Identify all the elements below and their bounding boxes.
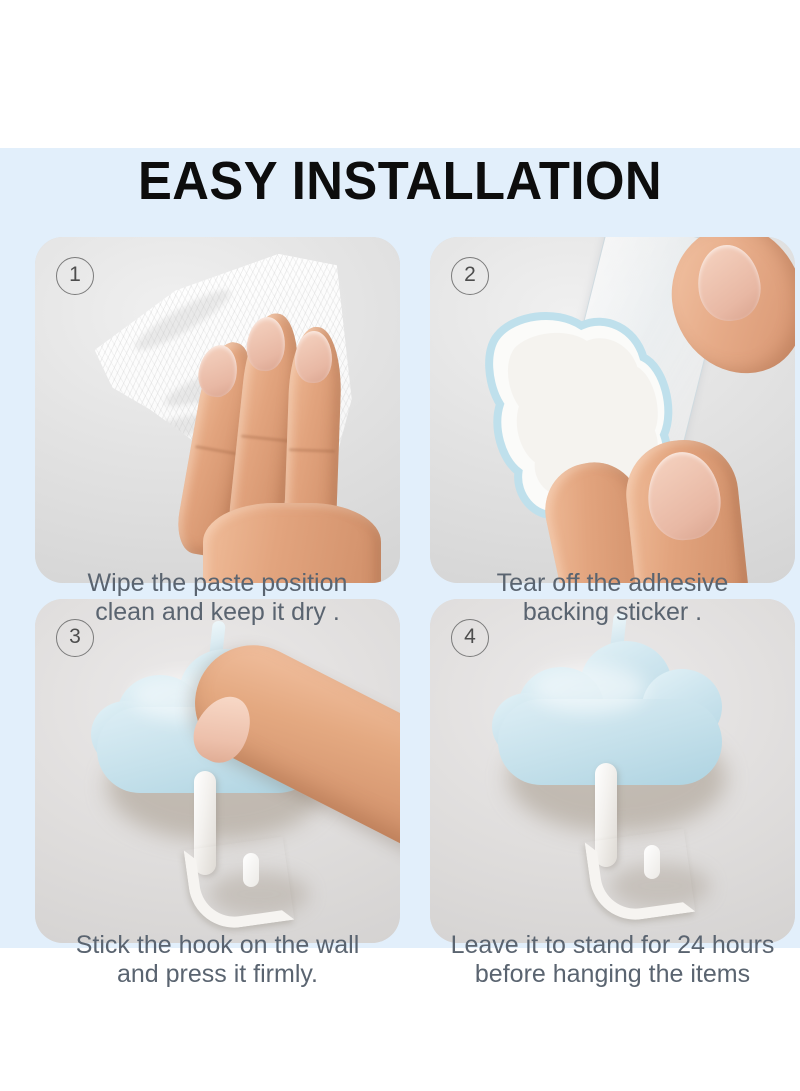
installation-steps-grid: 1 Wipe the paste position clean and keep… — [35, 237, 795, 943]
step-panel-2: 2 Tear off the adhesive backing sticker … — [430, 237, 795, 583]
step-1-photo: 1 — [35, 237, 400, 583]
hook-tip — [644, 845, 660, 879]
fingers-holding-hook — [552, 434, 762, 583]
cloud-hook-4 — [492, 613, 742, 903]
step-panel-1: 1 Wipe the paste position clean and keep… — [35, 237, 400, 583]
step-caption-3: Stick the hook on the wall and press it … — [13, 931, 422, 989]
step-3-photo: 3 — [35, 599, 400, 943]
step-4-photo: 4 — [430, 599, 795, 943]
step-caption-4: Leave it to stand for 24 hours before ha… — [408, 931, 800, 989]
step-panel-3: 3 Stick the hook on the wall and press i… — [35, 599, 400, 943]
step-caption-2: Tear off the adhesive backing sticker . — [408, 569, 800, 627]
step-caption-1: Wipe the paste position clean and keep i… — [13, 569, 422, 627]
hand-wiping — [175, 307, 400, 583]
hook-tip — [243, 853, 259, 887]
step-panel-4: 4 Leave it to stand for 24 hours before … — [430, 599, 795, 943]
page-title: EASY INSTALLATION — [24, 152, 776, 210]
step-number-badge-2: 2 — [451, 257, 489, 295]
step-number-badge-1: 1 — [56, 257, 94, 295]
step-2-photo: 2 — [430, 237, 795, 583]
